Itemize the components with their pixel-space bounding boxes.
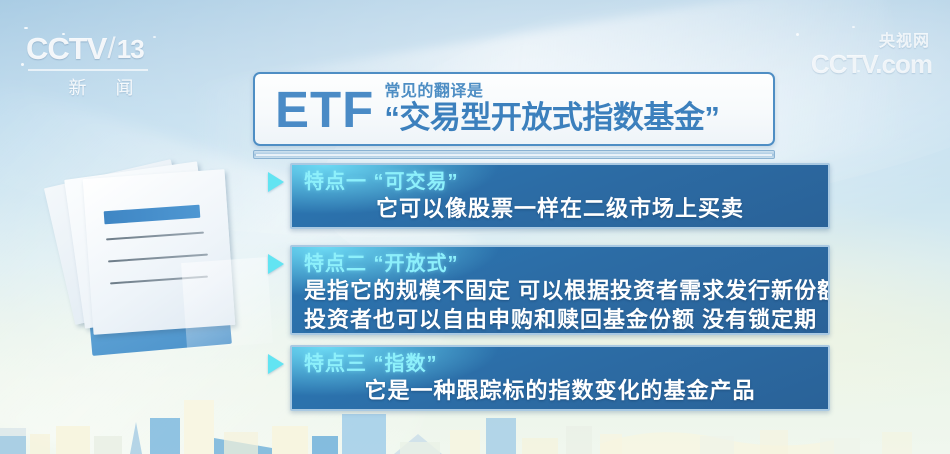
etf-title-card: ETF 常见的翻译是 “交易型开放式指数基金” xyxy=(253,72,775,146)
feature-one-heading: 特点一 “可交易” xyxy=(304,170,816,195)
cctv-logo-subtitle: 新 闻 xyxy=(26,74,178,100)
etf-acronym: ETF xyxy=(275,84,374,135)
feature-bar-three: 特点三 “指数” 它是一种跟踪标的指数变化的基金产品 xyxy=(290,345,830,411)
sparkle-dot xyxy=(796,33,799,36)
play-triangle-icon xyxy=(268,172,284,192)
watermark-cn-text: 央视网 xyxy=(811,34,930,50)
sparkle-dot xyxy=(852,26,855,28)
watermark-en-text: CCTV.com xyxy=(811,51,932,77)
cctv-wordmark: CCTV xyxy=(26,31,106,67)
document-glass-overlay xyxy=(181,257,273,349)
broadcast-screen: CCTV / 13 新 闻 央视网 CCTV.com ETF 常见的翻译是 “交… xyxy=(0,0,950,454)
feature-three-heading: 特点三 “指数” xyxy=(304,352,816,377)
play-triangle-icon xyxy=(268,254,284,274)
title-underline-bar xyxy=(253,150,775,159)
etf-title-text-group: 常见的翻译是 “交易型开放式指数基金” xyxy=(384,84,765,134)
cctv-logo-rule xyxy=(28,69,148,71)
cctv-logo-row: CCTV / 13 xyxy=(26,31,178,67)
cctv-channel-number: 13 xyxy=(117,34,144,65)
feature-two-line: 投资者也可以自由申购和赎回基金份额 没有锁定期 xyxy=(304,306,816,335)
feature-one-line: 它可以像股票一样在二级市场上买卖 xyxy=(304,195,816,224)
feature-bar-two: 特点二 “开放式” 是指它的规模不固定 可以根据投资者需求发行新份额 投资者也可… xyxy=(290,245,830,335)
document-stack-illustration xyxy=(52,168,262,363)
cctv-dot-com-watermark: 央视网 CCTV.com xyxy=(811,34,932,77)
feature-three-line: 它是一种跟踪标的指数变化的基金产品 xyxy=(304,377,816,406)
etf-title-kicker: 常见的翻译是 xyxy=(384,84,765,101)
cctv-logo-slash: / xyxy=(107,32,114,66)
feature-two-heading: 特点二 “开放式” xyxy=(304,252,816,277)
sparkle-dot xyxy=(24,27,28,29)
cctv13-channel-logo: CCTV / 13 新 闻 xyxy=(26,31,178,100)
sparkle-dot xyxy=(21,63,24,66)
play-triangle-icon xyxy=(268,354,284,374)
etf-title-main: “交易型开放式指数基金” xyxy=(384,102,765,135)
feature-two-line: 是指它的规模不固定 可以根据投资者需求发行新份额 xyxy=(304,277,816,306)
feature-bar-one: 特点一 “可交易” 它可以像股票一样在二级市场上买卖 xyxy=(290,163,830,229)
